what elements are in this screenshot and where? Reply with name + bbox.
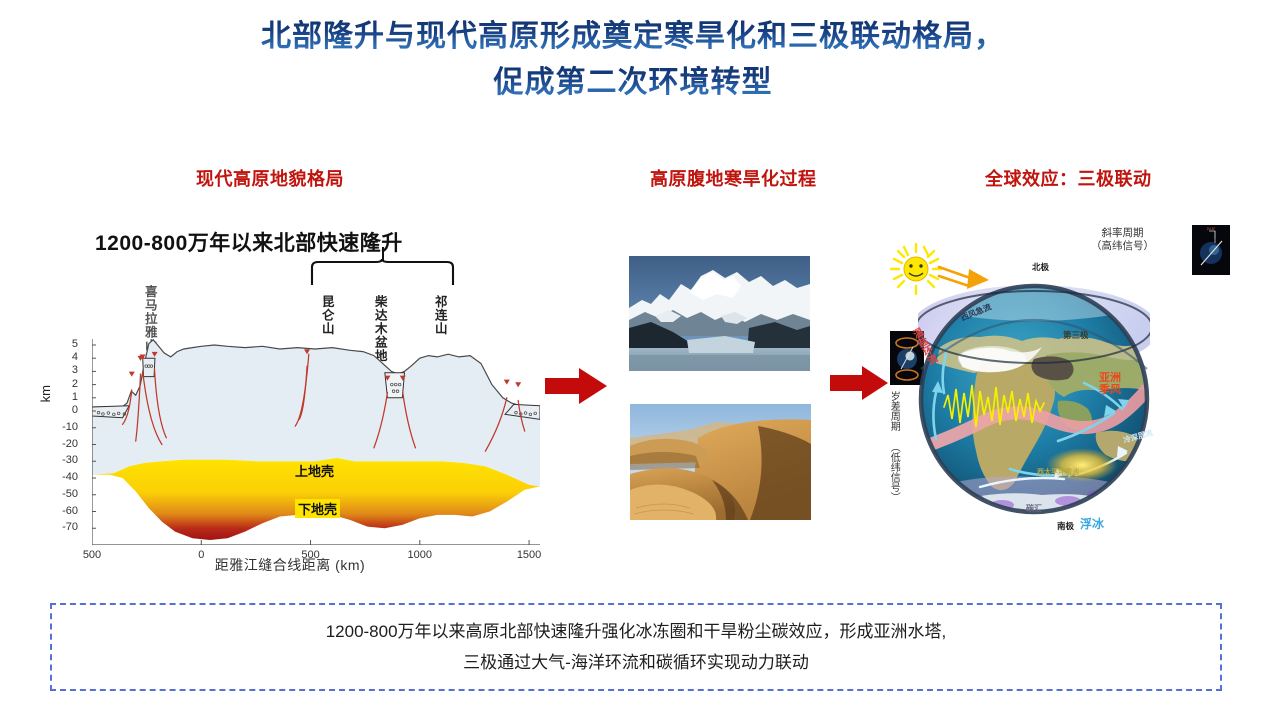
arrow-left-to-middle <box>545 368 607 404</box>
three-poles-globe-diagram: 斜率周期 （高纬信号） 24.5° 岁差周期 （低纬信号） <box>880 215 1266 560</box>
label-carbon-sink: 碳汇 <box>1026 503 1042 514</box>
label-warm-pool: 西太平洋暖池 <box>1037 467 1079 477</box>
slide-root: 北部隆升与现代高原形成奠定寒旱化和三极联动格局， 促成第二次环境转型 现代高原地… <box>0 0 1266 711</box>
cross-section-figure: 1200-800万年以来北部快速隆升 喜马拉雅山 昆仑山 柴达木盆地 祁连山 k… <box>40 215 540 585</box>
section-header-left: 现代高原地貌格局 <box>196 165 344 191</box>
x-axis-tick: 1500 <box>509 549 549 561</box>
y-axis-tick: -70 <box>50 521 78 533</box>
y-axis-tick: 4 <box>50 351 78 363</box>
label-obliquity-cycle: 斜率周期 （高纬信号） <box>1091 227 1154 253</box>
section-header-middle: 高原腹地寒旱化过程 <box>650 165 817 191</box>
title-line-2: 促成第二次环境转型 <box>0 60 1266 106</box>
svg-text:24.5°: 24.5° <box>1207 227 1216 231</box>
title-line-1: 北部隆升与现代高原形成奠定寒旱化和三极联动格局， <box>0 14 1266 60</box>
summary-line-2: 三极通过大气-海洋环流和碳循环实现动力联动 <box>463 647 809 678</box>
cross-section-title: 1200-800万年以来北部快速隆升 <box>95 227 403 257</box>
x-axis-tick: 1000 <box>400 549 440 561</box>
label-upper-crust: 上地壳 <box>295 461 334 480</box>
y-axis-tick: -30 <box>50 454 78 466</box>
label-precession-line2: （低纬信号） <box>888 442 899 502</box>
label-precession-cycle: 岁差周期 （低纬信号） <box>888 391 899 502</box>
y-axis-tick: 2 <box>50 378 78 390</box>
label-south-pole: 南极 <box>1057 520 1074 532</box>
label-lower-crust: 下地壳 <box>295 499 340 518</box>
sand-dune-desert-photo <box>630 404 811 520</box>
x-axis-tick: 500 <box>72 549 112 561</box>
label-obliquity-line1: 斜率周期 <box>1091 227 1154 240</box>
y-axis-tick: -50 <box>50 488 78 500</box>
label-sea-ice: 浮冰 <box>1080 515 1104 532</box>
snow-mountain-glacier-photo <box>629 256 810 371</box>
label-kunlun: 昆仑山 <box>320 295 333 336</box>
y-axis-tick: 3 <box>50 364 78 376</box>
y-axis-tick: -40 <box>50 471 78 483</box>
y-axis-ticks: 543210-10-20-30-40-50-60-70 <box>48 339 78 545</box>
obliquity-inset-image: 24.5° <box>1192 225 1230 275</box>
y-axis-tick: -10 <box>50 421 78 433</box>
section-header-right: 全球效应：三极联动 <box>985 165 1152 191</box>
uplift-brace <box>310 259 455 285</box>
label-precession-line1: 岁差周期 <box>888 391 899 431</box>
label-north-pole: 北极 <box>1032 261 1049 273</box>
y-axis-tick: -60 <box>50 505 78 517</box>
page-title: 北部隆升与现代高原形成奠定寒旱化和三极联动格局， 促成第二次环境转型 <box>0 14 1266 106</box>
y-axis-tick: 0 <box>50 404 78 416</box>
summary-line-1: 1200-800万年以来高原北部快速隆升强化冰冻圈和干旱粉尘碳效应，形成亚洲水塔… <box>326 616 947 647</box>
label-asian-monsoon: 亚洲季风 <box>1099 373 1129 396</box>
label-third-pole: 第三极 <box>1063 329 1089 341</box>
y-axis-tick: 1 <box>50 391 78 403</box>
y-axis-tick: -20 <box>50 438 78 450</box>
x-axis-tick: 0 <box>181 549 221 561</box>
label-qilian: 祁连山 <box>433 295 446 336</box>
x-axis-tick: 500 <box>291 549 331 561</box>
brace-stem <box>382 247 384 261</box>
summary-box: 1200-800万年以来高原北部快速隆升强化冰冻圈和干旱粉尘碳效应，形成亚洲水塔… <box>50 603 1222 691</box>
y-axis-tick: 5 <box>50 338 78 350</box>
